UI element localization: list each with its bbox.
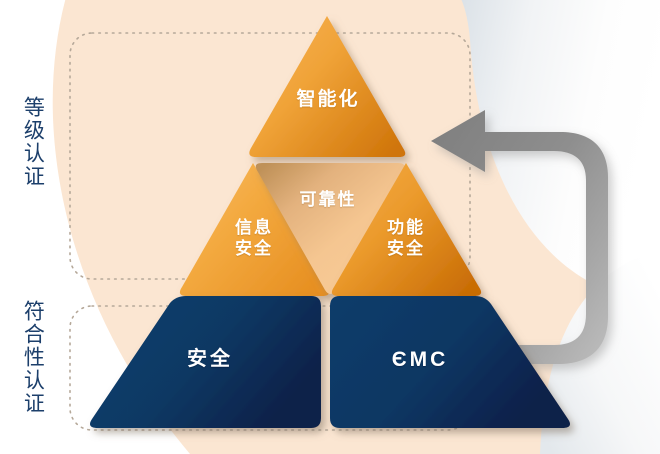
hit-area-safety[interactable] <box>92 296 321 428</box>
diagram-canvas: 等级认证 符合性认证 智能化 可靠性 信息 安全 功能 安全 安全 ЄMC <box>0 0 660 454</box>
side-label-level-certification: 等级认证 <box>22 96 43 188</box>
hit-area-feedback-arrow[interactable] <box>431 110 611 386</box>
hit-area-intelligence[interactable] <box>256 16 404 157</box>
side-label-compliance-certification: 符合性认证 <box>22 300 43 415</box>
